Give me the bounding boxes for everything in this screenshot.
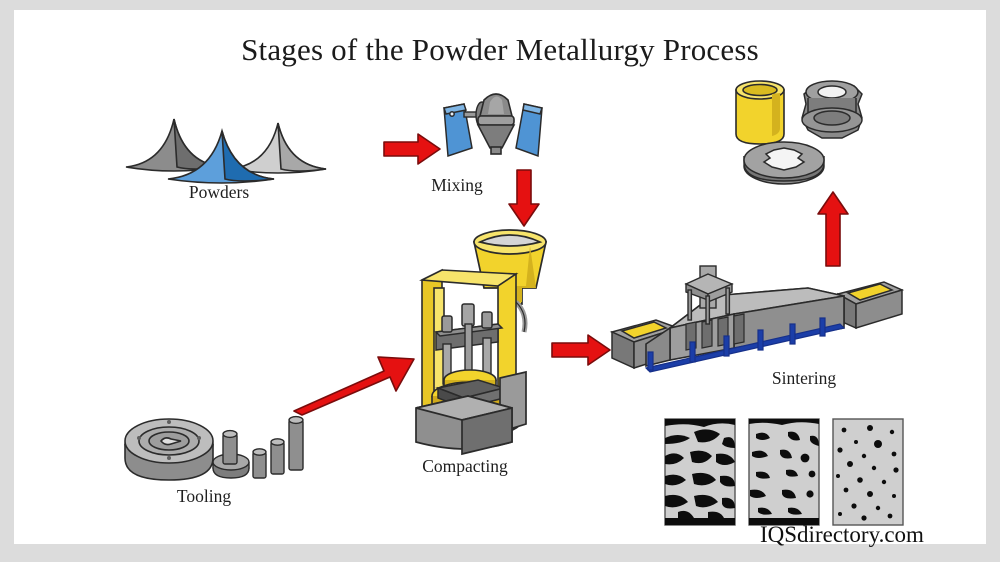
tooling-pin-long [289, 417, 303, 470]
stage-label-powders: Powders [159, 182, 279, 203]
tooling-pin-short [253, 449, 266, 478]
pile-right [230, 123, 326, 173]
mixer-support-right [516, 104, 542, 156]
micro-panel-near-full-density [833, 419, 903, 525]
tooling-pin-medium [271, 439, 284, 474]
tooling-punch-flanged [213, 431, 249, 478]
watermark: IQSdirectory.com [760, 522, 924, 548]
powders-illustration [122, 105, 332, 185]
arrow-mixing-to-compacting [507, 168, 541, 228]
micro-panel-loose-particles [665, 419, 735, 525]
sintering-illustration [612, 266, 902, 384]
micro-panel-partial-density [749, 419, 819, 525]
tooling-die [125, 419, 213, 480]
mixer-vessel [478, 94, 514, 154]
part-splined-hub [802, 81, 862, 138]
mixing-illustration [438, 86, 550, 170]
furnace-body [646, 288, 844, 366]
furnace-exit-conveyor [838, 282, 902, 328]
stage-label-tooling: Tooling [149, 486, 259, 507]
arrow-sintering-to-parts [816, 190, 850, 268]
stage-label-mixing: Mixing [407, 175, 507, 196]
arrow-compacting-to-sintering [550, 333, 612, 367]
diagram-canvas: Stages of the Powder Metallurgy Process … [14, 10, 986, 544]
stage-label-sintering: Sintering [744, 368, 864, 389]
tooling-illustration [119, 408, 309, 488]
part-yellow-bushing [736, 81, 784, 144]
arrow-powders-to-mixing [382, 132, 442, 166]
part-internal-gear-ring [744, 142, 824, 184]
page-title: Stages of the Powder Metallurgy Process [14, 32, 986, 68]
microstructure-panels [664, 418, 904, 528]
arrow-tooling-to-compacting [292, 345, 422, 415]
finished-parts-illustration [722, 68, 882, 188]
stage-label-compacting: Compacting [395, 456, 535, 477]
